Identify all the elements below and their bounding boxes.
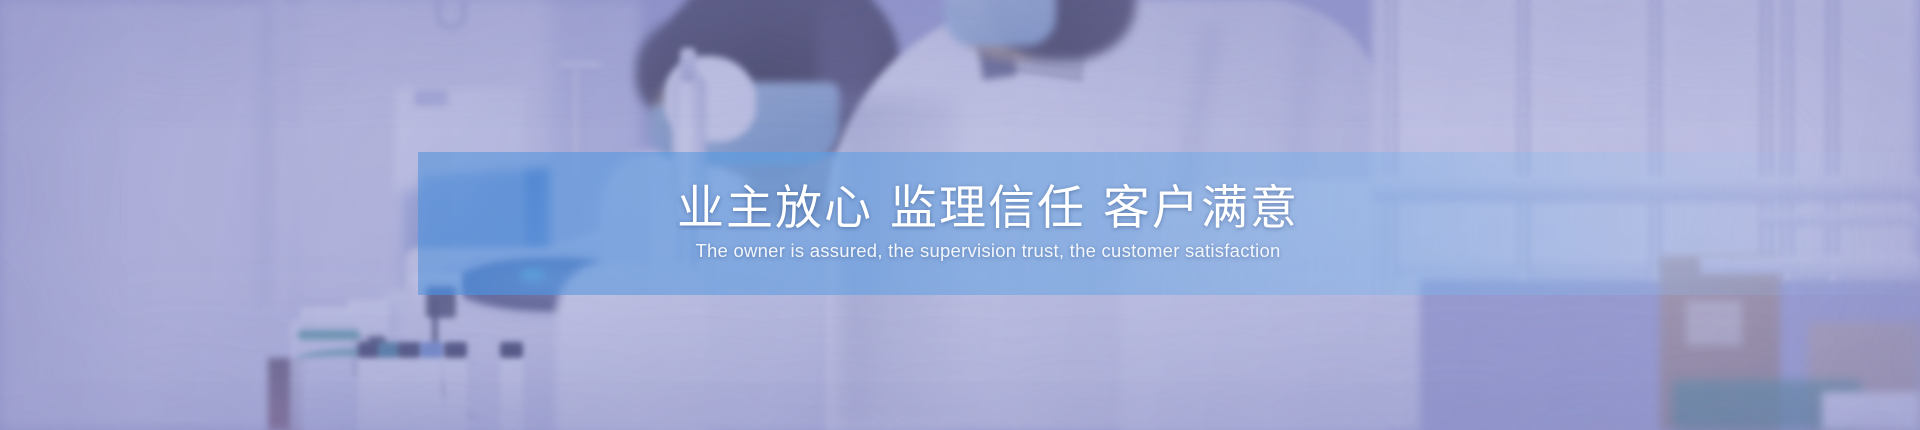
banner-subheadline: The owner is assured, the supervision tr… — [695, 239, 1280, 263]
banner-headline: 业主放心 监理信任 客户满意 — [677, 184, 1299, 235]
caption-text-block: 业主放心 监理信任 客户满意 The owner is assured, the… — [418, 152, 1558, 295]
hero-banner: 业主放心 监理信任 客户满意 The owner is assured, the… — [0, 0, 1920, 430]
